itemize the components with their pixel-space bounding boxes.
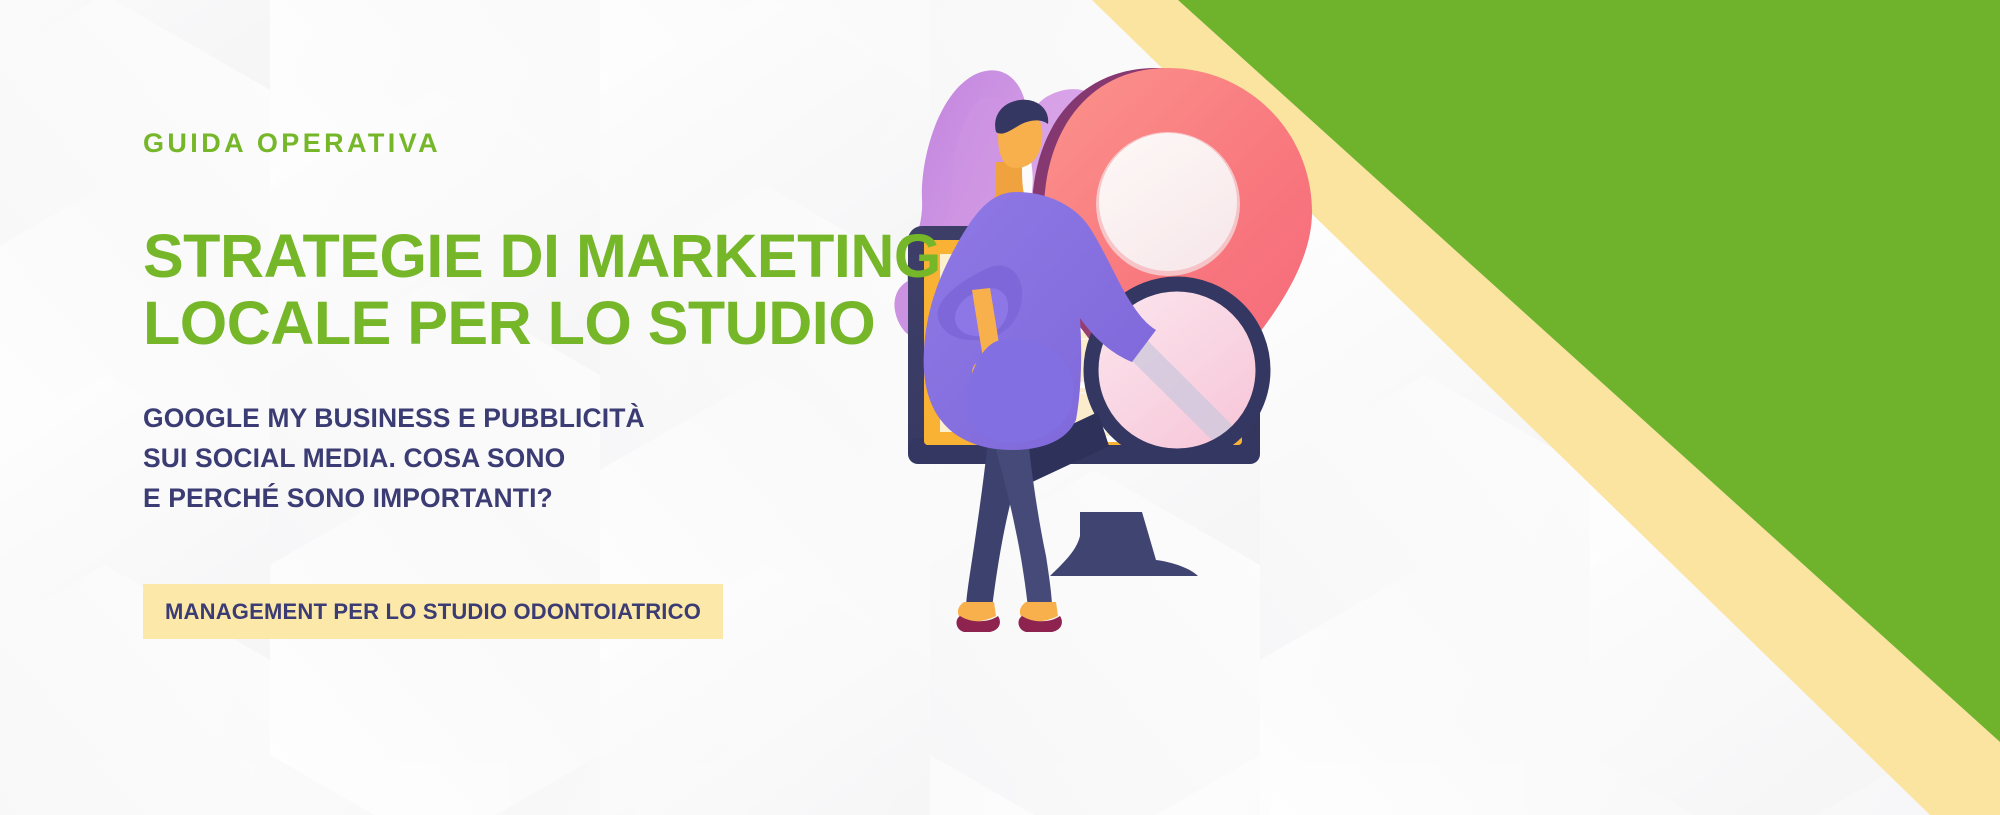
eyebrow-label: GUIDA OPERATIVA <box>143 130 903 157</box>
subtitle-line-3: E PERCHÉ SONO IMPORTANTI? <box>143 479 903 519</box>
local-marketing-illustration <box>880 40 1440 620</box>
page-title: STRATEGIE DI MARKETING LOCALE PER LO STU… <box>143 223 903 357</box>
subtitle: GOOGLE MY BUSINESS E PUBBLICITÀ SUI SOCI… <box>143 399 903 518</box>
subtitle-line-2: SUI SOCIAL MEDIA. COSA SONO <box>143 439 903 479</box>
headline-line-1: STRATEGIE DI MARKETING <box>143 223 903 290</box>
category-badge: MANAGEMENT PER LO STUDIO ODONTOIATRICO <box>143 584 723 639</box>
subtitle-line-1: GOOGLE MY BUSINESS E PUBBLICITÀ <box>143 399 903 439</box>
headline-line-2: LOCALE PER LO STUDIO <box>143 290 903 357</box>
banner-text-column: GUIDA OPERATIVA STRATEGIE DI MARKETING L… <box>143 130 903 639</box>
marketing-banner: GUIDA OPERATIVA STRATEGIE DI MARKETING L… <box>0 0 2000 815</box>
